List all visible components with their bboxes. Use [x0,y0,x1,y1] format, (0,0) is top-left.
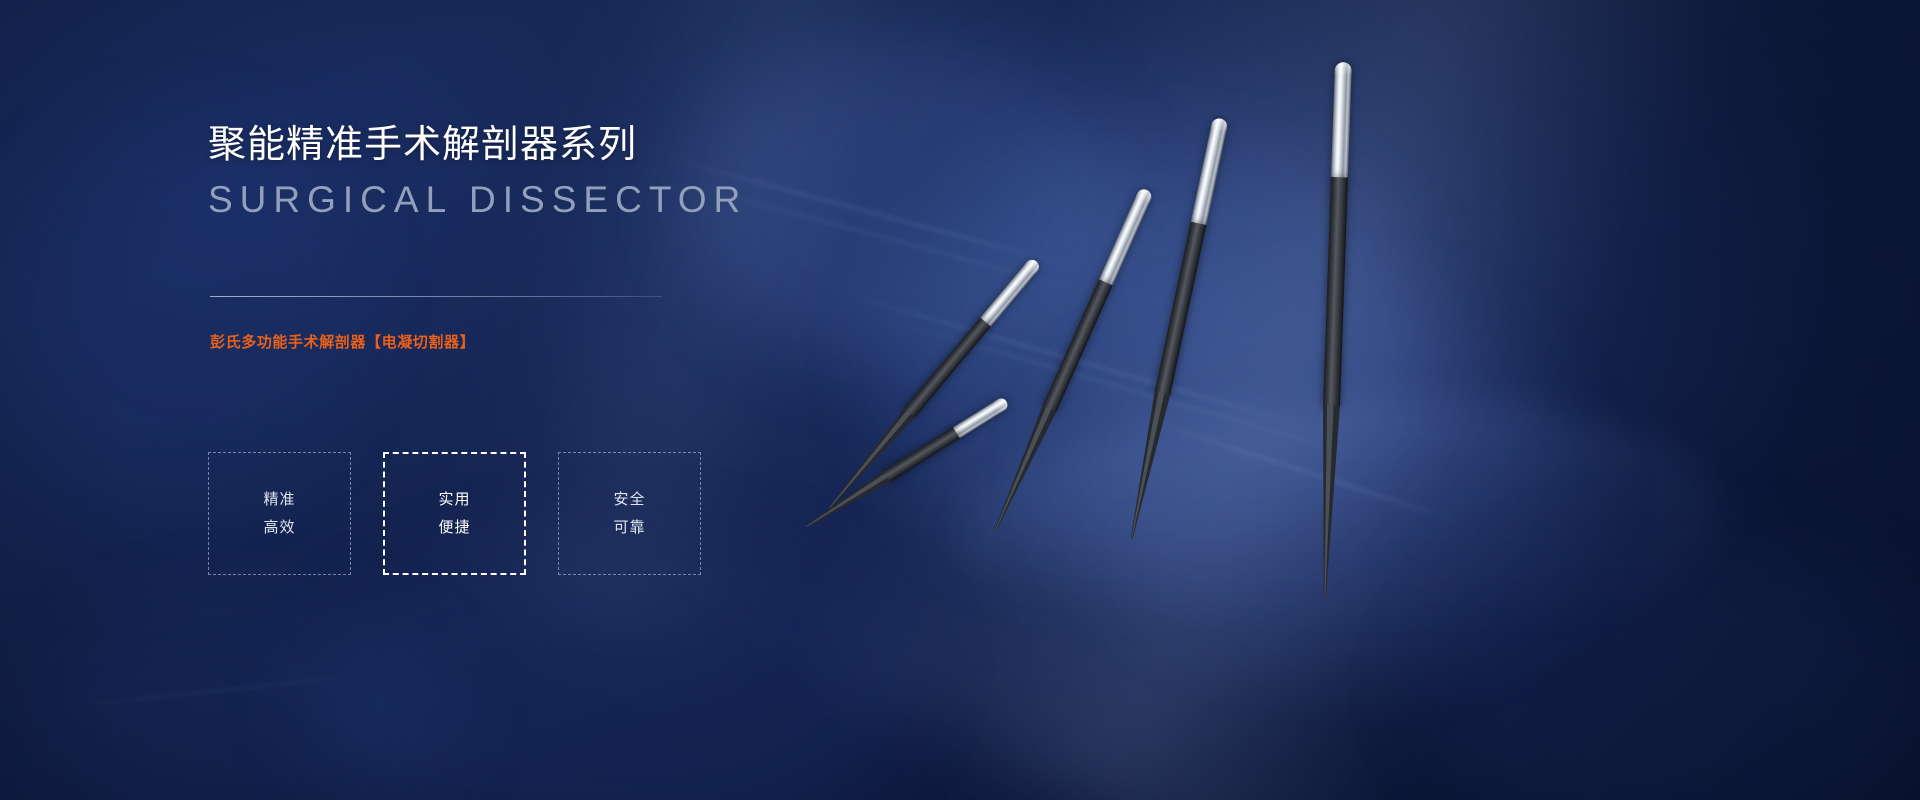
hero-copy: 聚能精准手术解剖器系列 SURGICAL DISSECTOR 彭氏多功能手术解剖… [208,0,848,800]
product-name-label: 彭氏多功能手术解剖器【电凝切割器】 [210,331,475,352]
feature-line-1: 精准 [263,486,295,514]
feature-line-1: 安全 [613,486,645,514]
hero-banner: 聚能精准手术解剖器系列 SURGICAL DISSECTOR 彭氏多功能手术解剖… [0,0,1920,800]
title-divider [210,296,662,297]
feature-box-practical[interactable]: 实用 便捷 [383,452,526,575]
feature-box-precision[interactable]: 精准 高效 [208,452,351,575]
page-title: 聚能精准手术解剖器系列 [208,122,637,168]
feature-line-1: 实用 [438,486,470,514]
feature-line-2: 高效 [263,514,295,542]
feature-box-group: 精准 高效 实用 便捷 安全 可靠 [208,452,701,575]
feature-line-2: 便捷 [438,514,470,542]
feature-box-safety[interactable]: 安全 可靠 [558,452,701,575]
feature-line-2: 可靠 [613,514,645,542]
page-subtitle-en: SURGICAL DISSECTOR [208,176,747,224]
